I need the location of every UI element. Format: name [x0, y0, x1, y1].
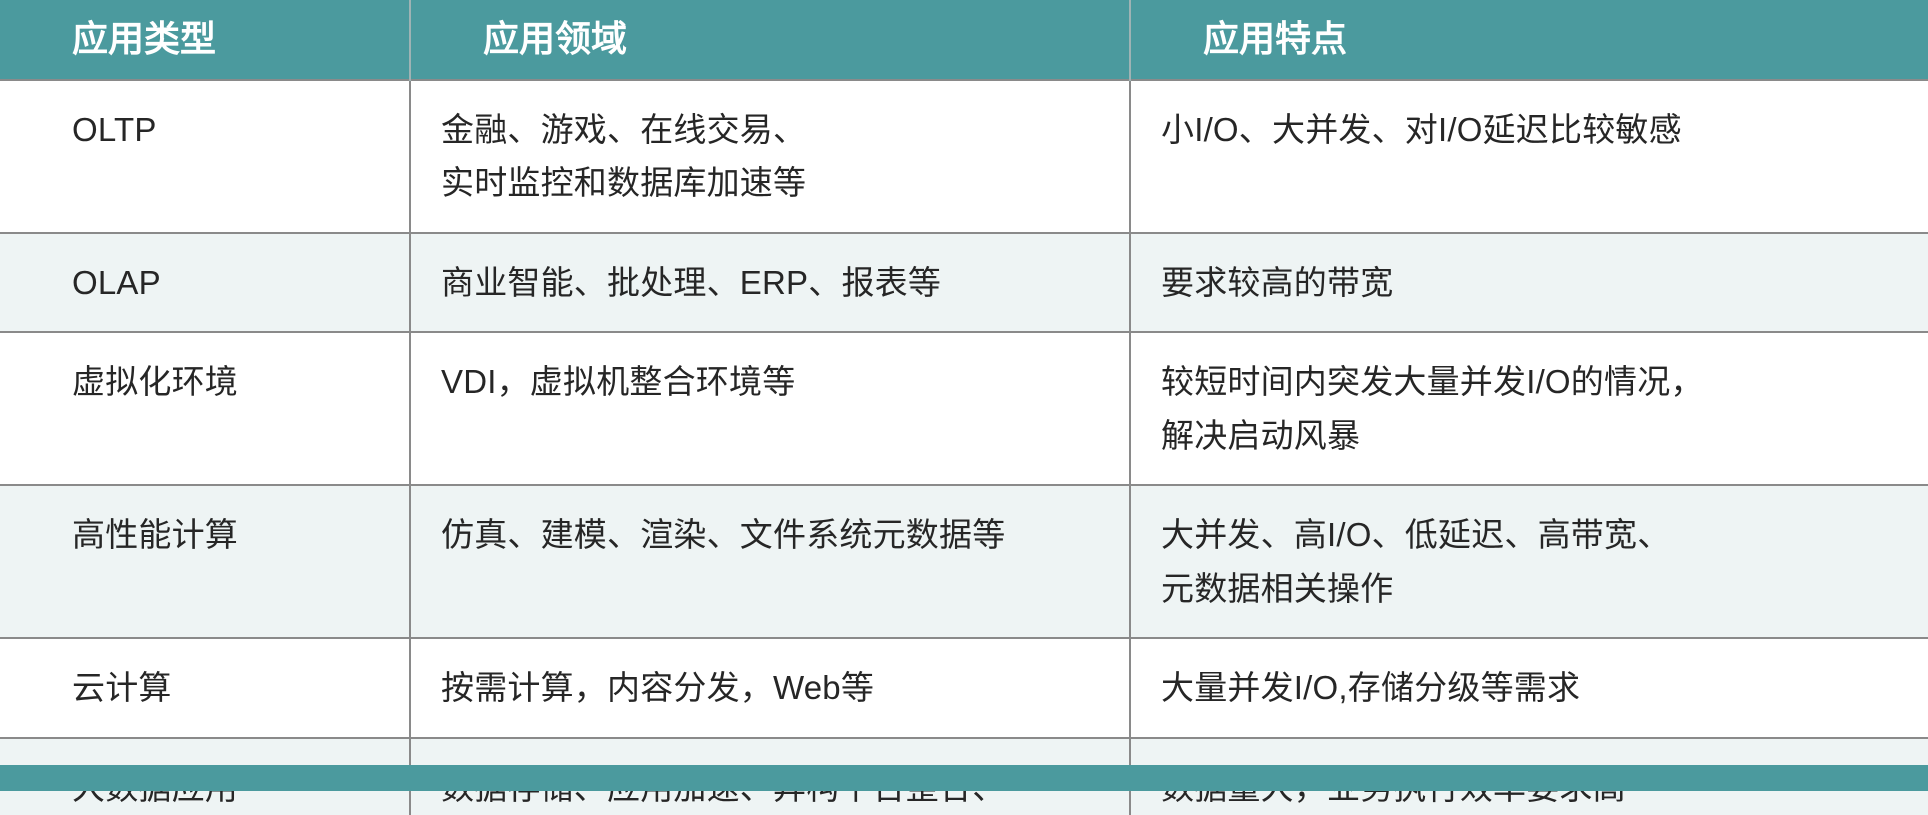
column-header-application-type: 应用类型	[0, 0, 410, 80]
cell-application-domain: 仿真、建模、渲染、文件系统元数据等	[410, 485, 1130, 638]
application-table-container: 应用类型 应用领域 应用特点 OLTP 金融、游戏、在线交易、 实时监控和数据库…	[0, 0, 1928, 815]
table-row: OLAP 商业智能、批处理、ERP、报表等 要求较高的带宽	[0, 233, 1928, 332]
cell-application-type: 虚拟化环境	[0, 332, 410, 485]
cell-application-domain: 按需计算，内容分发，Web等	[410, 638, 1130, 737]
cell-application-feature: 大量并发I/O,存储分级等需求	[1130, 638, 1928, 737]
cell-application-domain: 商业智能、批处理、ERP、报表等	[410, 233, 1130, 332]
cell-application-feature: 较短时间内突发大量并发I/O的情况， 解决启动风暴	[1130, 332, 1928, 485]
cell-line: 金融、游戏、在线交易、	[441, 103, 1103, 156]
cell-line: 实时监控和数据库加速等	[441, 156, 1103, 209]
cell-line: 商业智能、批处理、ERP、报表等	[441, 256, 1103, 309]
cell-line: 要求较高的带宽	[1161, 256, 1902, 309]
cell-application-type: 高性能计算	[0, 485, 410, 638]
header-row: 应用类型 应用领域 应用特点	[0, 0, 1928, 80]
cell-line: 按需计算，内容分发，Web等	[441, 661, 1103, 714]
cell-line: 解决启动风暴	[1161, 409, 1902, 462]
column-header-application-feature: 应用特点	[1130, 0, 1928, 80]
cell-application-type: OLAP	[0, 233, 410, 332]
cell-application-domain: 金融、游戏、在线交易、 实时监控和数据库加速等	[410, 80, 1130, 233]
cell-application-type: 云计算	[0, 638, 410, 737]
table-row: 高性能计算 仿真、建模、渲染、文件系统元数据等 大并发、高I/O、低延迟、高带宽…	[0, 485, 1928, 638]
cell-line: 仿真、建模、渲染、文件系统元数据等	[441, 508, 1103, 561]
table-row: 虚拟化环境 VDI，虚拟机整合环境等 较短时间内突发大量并发I/O的情况， 解决…	[0, 332, 1928, 485]
cell-line: 大并发、高I/O、低延迟、高带宽、	[1161, 508, 1902, 561]
cell-line: 较短时间内突发大量并发I/O的情况，	[1161, 355, 1902, 408]
bottom-accent-bar	[0, 765, 1928, 791]
cell-application-feature: 小I/O、大并发、对I/O延迟比较敏感	[1130, 80, 1928, 233]
cell-application-type: OLTP	[0, 80, 410, 233]
cell-application-feature: 大并发、高I/O、低延迟、高带宽、 元数据相关操作	[1130, 485, 1928, 638]
cell-application-feature: 要求较高的带宽	[1130, 233, 1928, 332]
table-row: 云计算 按需计算，内容分发，Web等 大量并发I/O,存储分级等需求	[0, 638, 1928, 737]
column-header-application-domain: 应用领域	[410, 0, 1130, 80]
slide-canvas: 应用类型 应用领域 应用特点 OLTP 金融、游戏、在线交易、 实时监控和数据库…	[0, 0, 1928, 815]
cell-line: 小I/O、大并发、对I/O延迟比较敏感	[1161, 103, 1902, 156]
cell-line: VDI，虚拟机整合环境等	[441, 355, 1103, 408]
cell-application-domain: VDI，虚拟机整合环境等	[410, 332, 1130, 485]
table-header: 应用类型 应用领域 应用特点	[0, 0, 1928, 80]
cell-line: 元数据相关操作	[1161, 562, 1902, 615]
table-body: OLTP 金融、游戏、在线交易、 实时监控和数据库加速等 小I/O、大并发、对I…	[0, 80, 1928, 815]
cell-line: 大量并发I/O,存储分级等需求	[1161, 661, 1902, 714]
application-type-table: 应用类型 应用领域 应用特点 OLTP 金融、游戏、在线交易、 实时监控和数据库…	[0, 0, 1928, 815]
table-row: OLTP 金融、游戏、在线交易、 实时监控和数据库加速等 小I/O、大并发、对I…	[0, 80, 1928, 233]
